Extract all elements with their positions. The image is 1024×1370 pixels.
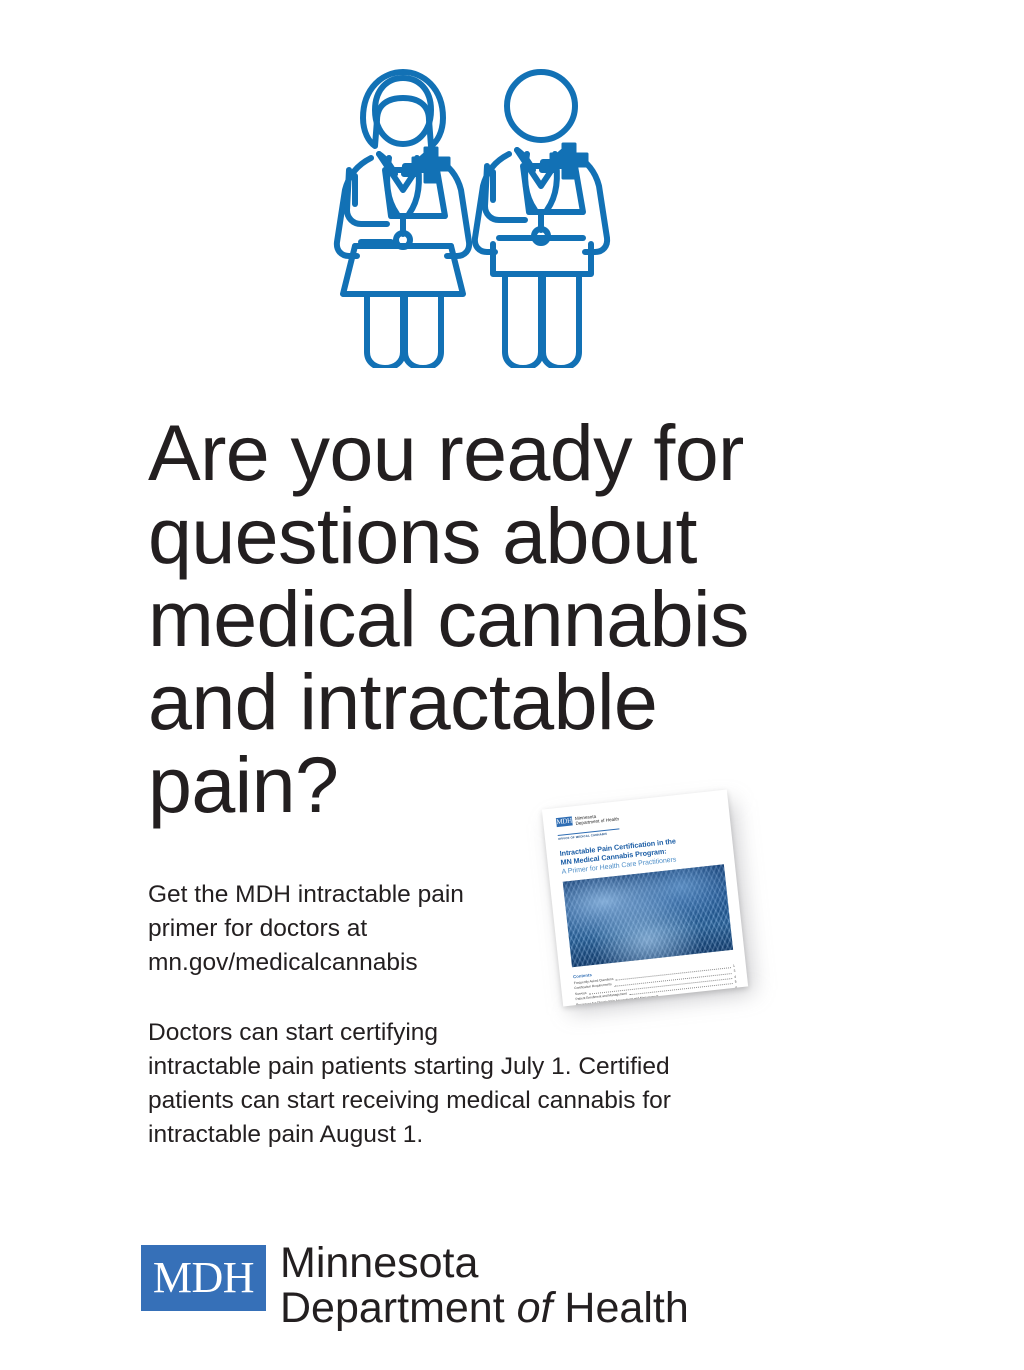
primer-booklet-mockup: MDH Minnesota Department of Health OFFIC… [540,785,770,1020]
primer-callout-line-2: primer for doctors at [148,912,538,946]
primer-callout-line-1: Get the MDH intractable pain [148,878,538,912]
mdh-logo-wordmark-line-2: Department of Health [280,1286,689,1331]
mdh-logo: MDH Minnesota Department of Health [141,1245,689,1331]
timeline-line-3: patients can start receiving medical can… [148,1084,748,1118]
timeline-line-2: intractable pain patients starting July … [148,1050,748,1084]
primer-callout-text: Get the MDH intractable pain primer for … [148,878,538,980]
headline-line-1: Are you ready for [148,411,848,494]
mdh-logo-mark-text: MDH [153,1255,254,1301]
booklet-mdh-wordmark: Minnesota Department of Health [575,811,620,826]
booklet-mdh-logo: MDH Minnesota Department of Health [556,801,719,834]
mdh-logo-word-health: Health [552,1284,688,1332]
timeline-text: Doctors can start certifying intractable… [148,1016,748,1152]
booklet-mdh-mark: MDH [556,816,573,827]
mdh-logo-word-of: of [517,1284,553,1332]
timeline-line-1: Doctors can start certifying [148,1016,748,1050]
headline-line-2: questions about [148,494,848,577]
mdh-logo-wordmark-line-1: Minnesota [280,1241,689,1286]
poster-canvas: Are you ready for questions about medica… [0,0,1024,1370]
booklet-cover-photo [563,864,733,967]
mdh-logo-wordmark: Minnesota Department of Health [280,1241,689,1331]
mdh-logo-mark: MDH [141,1245,266,1311]
booklet-cover: MDH Minnesota Department of Health OFFIC… [542,790,748,1007]
mdh-logo-word-department: Department [280,1284,517,1332]
headline-line-4: and intractable [148,660,848,743]
page-title: Are you ready for questions about medica… [148,411,848,826]
timeline-line-4: intractable pain August 1. [148,1118,748,1152]
primer-url[interactable]: mn.gov/medicalcannabis [148,946,538,980]
two-doctors-icon [325,58,620,368]
headline-line-3: medical cannabis [148,577,848,660]
